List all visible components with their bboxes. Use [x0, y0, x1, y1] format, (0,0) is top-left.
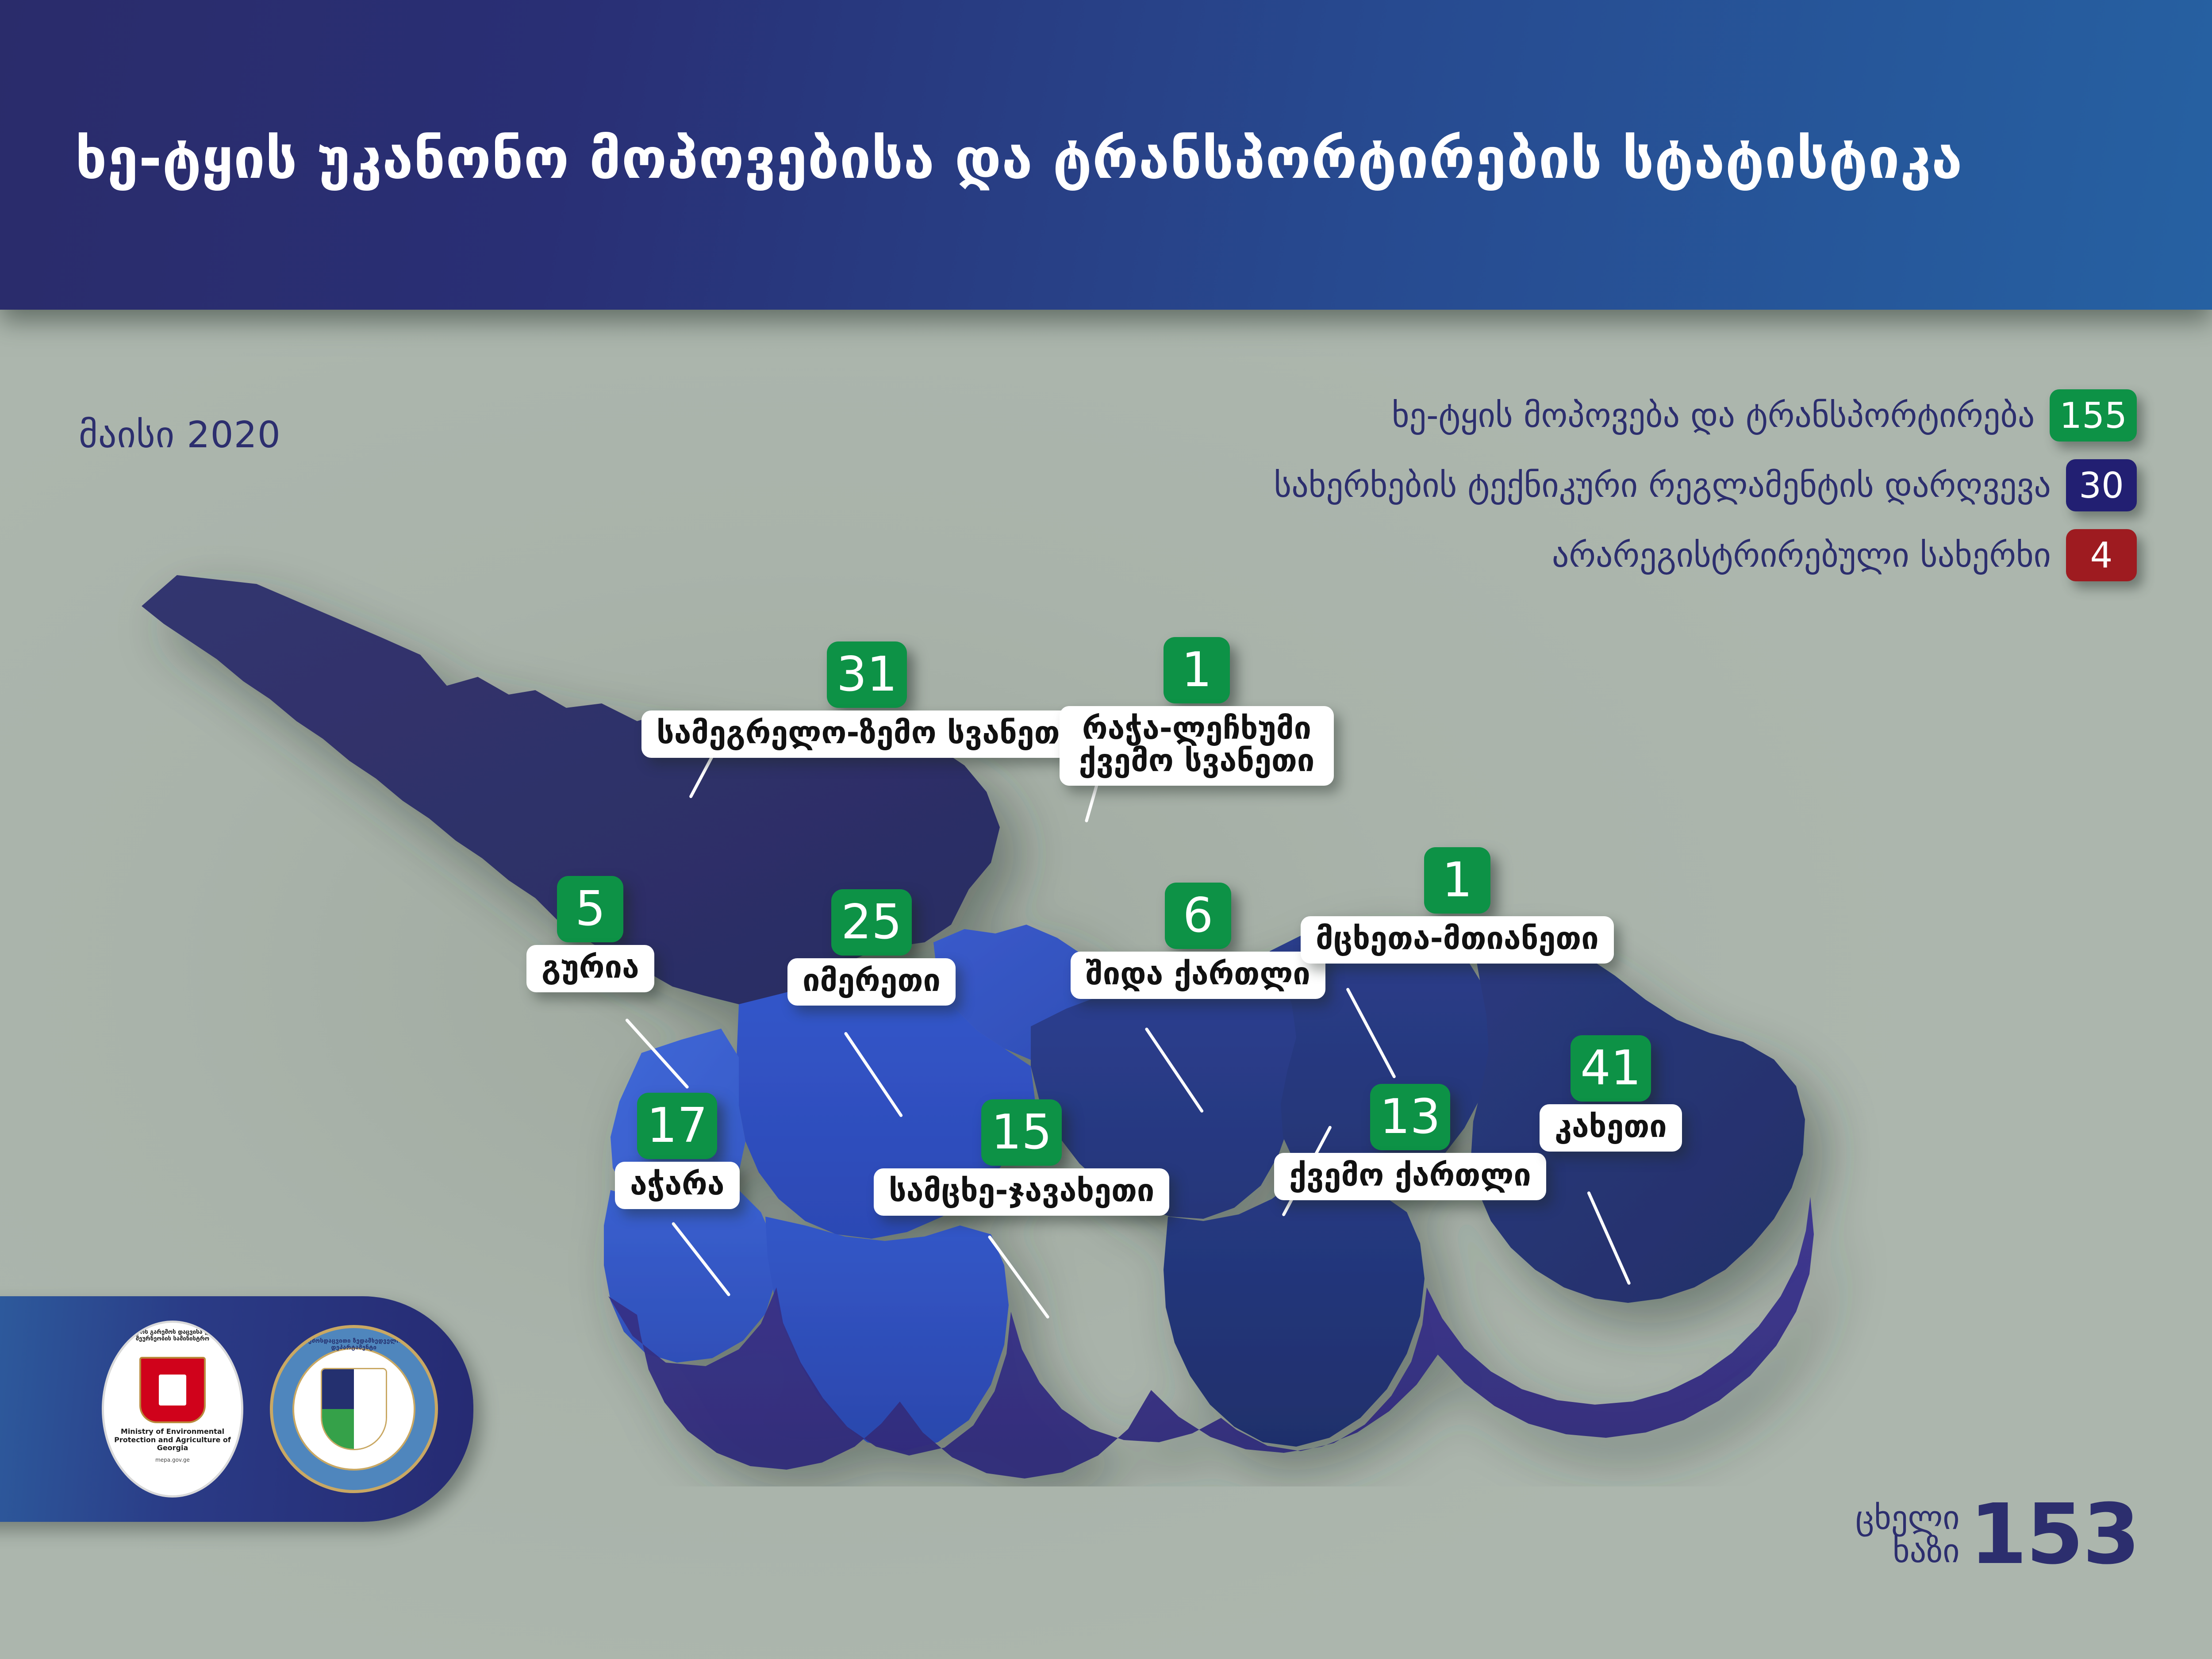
legend: ხე-ტყის მოპოვება და ტრანსპორტირება 155 ს… [1274, 389, 2137, 599]
legend-row: არარეგისტრირებული სახერხი 4 [1274, 529, 2137, 581]
map-marker-ajara[interactable]: 17 აჭარა [615, 1093, 740, 1209]
ministry-seal-url: mepa.gov.ge [155, 1457, 190, 1463]
coat-of-arms-icon [139, 1357, 206, 1423]
marker-label: კახეთი [1540, 1104, 1682, 1152]
ministry-seal: საქართველოს გარემოს დაცვისა და სოფლის მე… [102, 1321, 243, 1498]
marker-label: გურია [526, 945, 654, 992]
marker-value: 6 [1165, 883, 1231, 949]
marker-value: 17 [637, 1093, 717, 1159]
hotline-label: ცხელი ხაზი [1855, 1502, 1960, 1568]
marker-label: იმერეთი [787, 958, 956, 1006]
department-seal-inner [292, 1348, 415, 1471]
marker-value: 25 [831, 889, 911, 956]
ministry-seal-oval: საქართველოს გარემოს დაცვისა და სოფლის მე… [102, 1321, 243, 1498]
map-marker-guria[interactable]: 5 გურია [526, 876, 654, 992]
marker-label: სამეგრელო-ზემო სვანეთი [641, 710, 1092, 758]
hotline-label-line1: ცხელი [1855, 1502, 1960, 1535]
map-marker-mtskheta-mtianeti[interactable]: 1 მცხეთა-მთიანეთი [1301, 847, 1614, 964]
department-seal-georgian-text: გარემოსდაცვითი ზედამხედველობის დეპარტამე… [273, 1338, 435, 1351]
legend-row: ხე-ტყის მოპოვება და ტრანსპორტირება 155 [1274, 389, 2137, 442]
hotline: ცხელი ხაზი 153 [1855, 1499, 2139, 1571]
map-marker-kvemo-kartli[interactable]: 13 ქვემო ქართლი [1274, 1084, 1546, 1200]
logo-bar: საქართველოს გარემოს დაცვისა და სოფლის მე… [0, 1296, 473, 1522]
marker-value: 41 [1571, 1035, 1651, 1102]
map-marker-imereti[interactable]: 25 იმერეთი [787, 889, 956, 1006]
map-marker-samegrelo-zemo-svaneti[interactable]: 31 სამეგრელო-ზემო სვანეთი [641, 641, 1092, 758]
department-shield-icon [321, 1368, 387, 1450]
department-seal-round: გარემოსდაცვითი ზედამხედველობის დეპარტამე… [270, 1325, 438, 1493]
marker-value: 15 [981, 1099, 1061, 1166]
legend-label: არარეგისტრირებული სახერხი [1552, 538, 2051, 572]
legend-label: სახერხების ტექნიკური რეგლამენტის დარღვევ… [1274, 469, 2051, 502]
legend-value-badge: 155 [2050, 389, 2137, 442]
marker-label: სამცხე-ჯავახეთი [874, 1168, 1169, 1216]
marker-label: ქვემო ქართლი [1274, 1153, 1546, 1200]
legend-row: სახერხების ტექნიკური რეგლამენტის დარღვევ… [1274, 459, 2137, 511]
ministry-seal-english-text: Ministry of Environmental Protection and… [104, 1428, 241, 1453]
page-title: ხე-ტყის უკანონო მოპოვებისა და ტრანსპორტი… [75, 131, 1963, 187]
department-seal: გარემოსდაცვითი ზედამხედველობის დეპარტამე… [270, 1325, 438, 1493]
marker-label: მცხეთა-მთიანეთი [1301, 916, 1614, 964]
shield-quarter-water-icon [354, 1409, 386, 1449]
marker-value: 13 [1370, 1084, 1450, 1150]
map-marker-kakheti[interactable]: 41 კახეთი [1540, 1035, 1682, 1152]
hotline-label-line2: ხაზი [1893, 1535, 1960, 1568]
shield-quarter-sun-icon [322, 1369, 354, 1409]
map-marker-samtskhe-javakheti[interactable]: 15 სამცხე-ჯავახეთი [874, 1099, 1169, 1216]
legend-value-badge: 4 [2066, 529, 2137, 581]
marker-value: 1 [1424, 847, 1490, 914]
ministry-seal-georgian-text: საქართველოს გარემოს დაცვისა და სოფლის მე… [104, 1329, 241, 1342]
header-banner: ხე-ტყის უკანონო მოპოვებისა და ტრანსპორტი… [0, 0, 2212, 310]
marker-label: რაჭა-ლეჩხუმი ქვემო სვანეთი [1060, 706, 1334, 786]
shield-quarter-tree-icon [322, 1409, 354, 1449]
legend-label: ხე-ტყის მოპოვება და ტრანსპორტირება [1392, 399, 2035, 432]
map-marker-shida-kartli[interactable]: 6 შიდა ქართლი [1071, 883, 1325, 999]
coat-of-arms-rider-icon [159, 1375, 186, 1406]
marker-value: 31 [827, 641, 907, 708]
marker-value: 5 [557, 876, 623, 942]
hotline-number: 153 [1970, 1499, 2139, 1571]
date-label: მაისი 2020 [79, 414, 281, 456]
shield-quarter-mountain-icon [354, 1369, 386, 1409]
marker-value: 1 [1164, 637, 1230, 703]
marker-label: შიდა ქართლი [1071, 952, 1325, 999]
legend-value-badge: 30 [2066, 459, 2137, 511]
map-marker-racha-lechkhumi[interactable]: 1 რაჭა-ლეჩხუმი ქვემო სვანეთი [1060, 637, 1334, 786]
marker-label: აჭარა [615, 1162, 740, 1209]
